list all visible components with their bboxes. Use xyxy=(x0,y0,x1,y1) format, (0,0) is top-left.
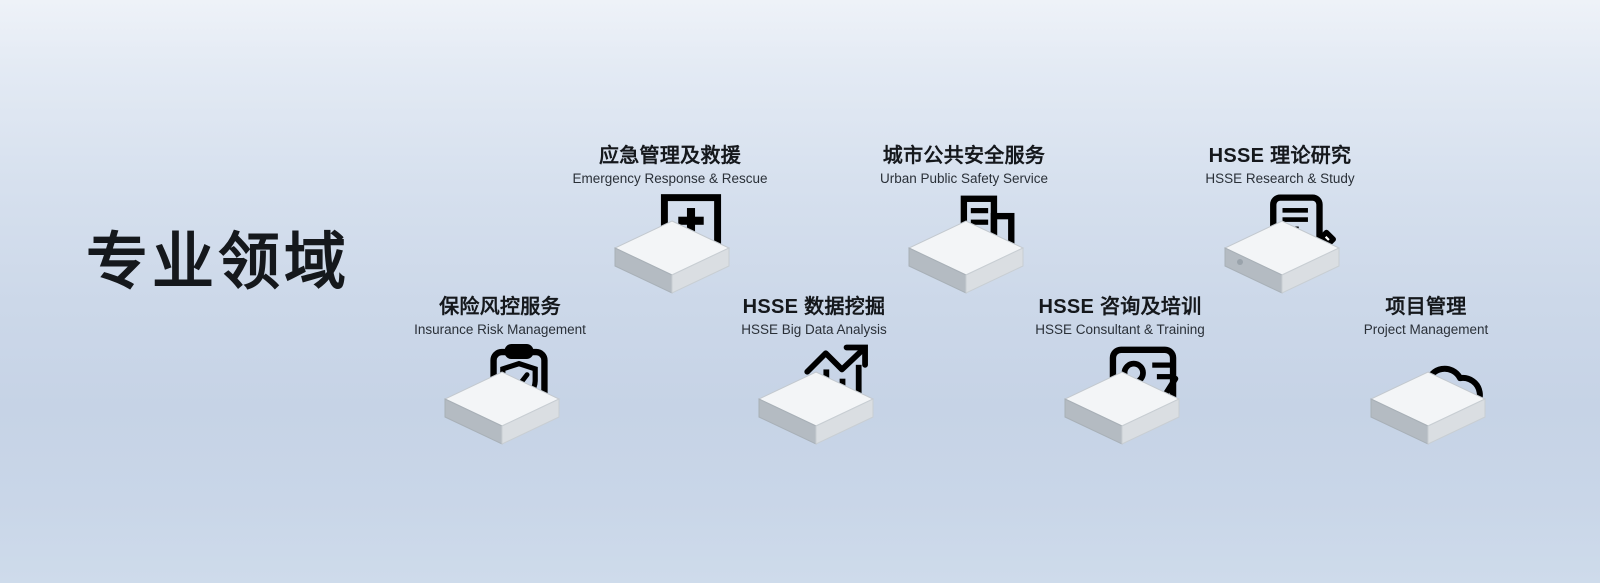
domain-label-cn: 应急管理及救援 xyxy=(550,145,790,168)
isometric-slab xyxy=(1368,370,1488,448)
isometric-slab xyxy=(612,219,732,297)
domain-label-cn: HSSE 咨询及培训 xyxy=(1000,296,1240,319)
domain-card-urban-public-safety[interactable]: 城市公共安全服务 Urban Public Safety Service xyxy=(844,145,1084,301)
professional-domains-banner: 专业领域 应急管理及救援 Emergency Response & Rescue xyxy=(0,0,1600,583)
domain-label-cn: HSSE 数据挖掘 xyxy=(694,296,934,319)
domain-icon-slab xyxy=(844,193,1084,301)
domain-icon-slab: PM xyxy=(1306,344,1546,452)
domain-label-cn: 保险风控服务 xyxy=(380,296,620,319)
domain-icon-slab xyxy=(550,193,790,301)
domain-label-en: Project Management xyxy=(1306,322,1546,338)
domain-card-hsse-consultant[interactable]: HSSE 咨询及培训 HSSE Consultant & Training xyxy=(1000,296,1240,452)
isometric-slab xyxy=(1062,370,1182,448)
domain-card-emergency-response[interactable]: 应急管理及救援 Emergency Response & Rescue xyxy=(550,145,790,301)
domain-icon-slab xyxy=(694,344,934,452)
domain-icon-slab xyxy=(1160,193,1400,301)
domain-label-en: HSSE Big Data Analysis xyxy=(694,322,934,338)
domain-label-cn: HSSE 理论研究 xyxy=(1160,145,1400,168)
isometric-slab xyxy=(906,219,1026,297)
domain-label-en: HSSE Consultant & Training xyxy=(1000,322,1240,338)
domain-icon-slab xyxy=(1000,344,1240,452)
isometric-slab xyxy=(1222,219,1342,297)
domain-label-en: Urban Public Safety Service xyxy=(844,171,1084,187)
isometric-slab xyxy=(756,370,876,448)
isometric-slab xyxy=(442,370,562,448)
domain-label-en: HSSE Research & Study xyxy=(1160,171,1400,187)
domain-card-project-management[interactable]: 项目管理 Project Management PM xyxy=(1306,296,1546,452)
domain-label-cn: 城市公共安全服务 xyxy=(844,145,1084,168)
domain-label-cn: 项目管理 xyxy=(1306,296,1546,319)
domain-card-hsse-big-data[interactable]: HSSE 数据挖掘 HSSE Big Data Analysis xyxy=(694,296,934,452)
domain-label-en: Insurance Risk Management xyxy=(380,322,620,338)
page-title: 专业领域 xyxy=(86,232,350,294)
domain-card-hsse-research[interactable]: HSSE 理论研究 HSSE Research & Study xyxy=(1160,145,1400,301)
domain-card-insurance-risk[interactable]: 保险风控服务 Insurance Risk Management xyxy=(380,296,620,452)
domain-icon-slab xyxy=(380,344,620,452)
domain-label-en: Emergency Response & Rescue xyxy=(550,171,790,187)
